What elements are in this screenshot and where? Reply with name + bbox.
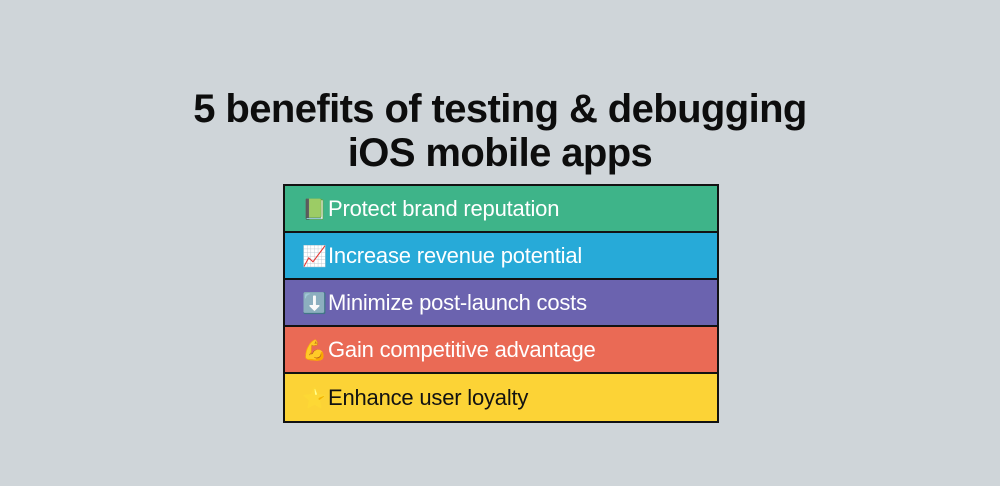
list-item-label: Enhance user loyalty xyxy=(328,385,528,411)
list-item-label: Protect brand reputation xyxy=(328,196,559,222)
benefits-list: 📗 Protect brand reputation 📈 Increase re… xyxy=(283,184,719,423)
flexed-biceps-icon: 💪 xyxy=(302,340,328,360)
chart-increasing-icon: 📈 xyxy=(302,246,328,266)
list-item-label: Gain competitive advantage xyxy=(328,337,596,363)
list-item-label: Minimize post-launch costs xyxy=(328,290,587,316)
list-item: 💪 Gain competitive advantage xyxy=(285,327,717,374)
slide-canvas: 5 benefits of testing & debugging iOS mo… xyxy=(0,0,1000,486)
page-title: 5 benefits of testing & debugging iOS mo… xyxy=(0,87,1000,175)
list-item: ⬇️ Minimize post-launch costs xyxy=(285,280,717,327)
down-arrow-button-icon: ⬇️ xyxy=(302,293,328,313)
list-item-label: Increase revenue potential xyxy=(328,243,582,269)
green-book-icon: 📗 xyxy=(302,199,328,219)
star-icon: ⭐ xyxy=(302,388,328,408)
list-item: 📈 Increase revenue potential xyxy=(285,233,717,280)
list-item: ⭐ Enhance user loyalty xyxy=(285,374,717,421)
list-item: 📗 Protect brand reputation xyxy=(285,186,717,233)
